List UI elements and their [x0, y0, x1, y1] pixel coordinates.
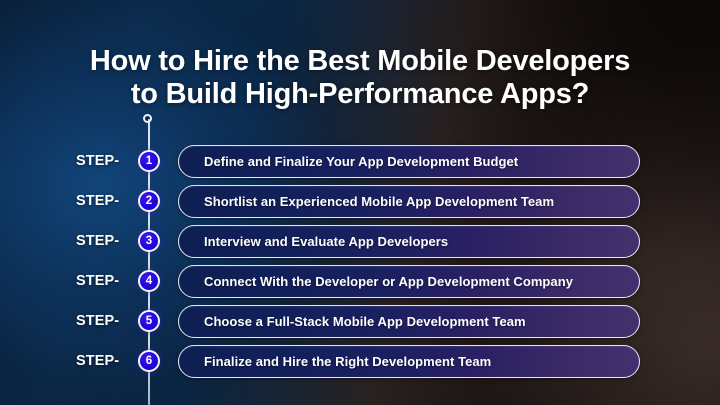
step-row[interactable]: STEP- 6 Finalize and Hire the Right Deve… — [0, 345, 720, 378]
step-label: STEP- — [76, 225, 119, 258]
step-text: Define and Finalize Your App Development… — [204, 146, 625, 177]
infographic-poster: How to Hire the Best Mobile Developers t… — [0, 0, 720, 405]
page-title: How to Hire the Best Mobile Developers t… — [0, 45, 720, 111]
step-text: Interview and Evaluate App Developers — [204, 226, 625, 257]
step-pill[interactable]: Choose a Full-Stack Mobile App Developme… — [178, 305, 640, 338]
step-number-badge: 1 — [138, 150, 160, 172]
step-row[interactable]: STEP- 5 Choose a Full-Stack Mobile App D… — [0, 305, 720, 338]
step-label: STEP- — [76, 345, 119, 378]
step-number-badge: 6 — [138, 350, 160, 372]
step-text: Connect With the Developer or App Develo… — [204, 266, 625, 297]
step-text: Shortlist an Experienced Mobile App Deve… — [204, 186, 625, 217]
step-row[interactable]: STEP- 1 Define and Finalize Your App Dev… — [0, 145, 720, 178]
step-label: STEP- — [76, 185, 119, 218]
step-pill[interactable]: Connect With the Developer or App Develo… — [178, 265, 640, 298]
step-label: STEP- — [76, 145, 119, 178]
step-pill[interactable]: Define and Finalize Your App Development… — [178, 145, 640, 178]
step-pill[interactable]: Interview and Evaluate App Developers — [178, 225, 640, 258]
step-row[interactable]: STEP- 4 Connect With the Developer or Ap… — [0, 265, 720, 298]
step-pill[interactable]: Finalize and Hire the Right Development … — [178, 345, 640, 378]
step-pill[interactable]: Shortlist an Experienced Mobile App Deve… — [178, 185, 640, 218]
step-number-badge: 4 — [138, 270, 160, 292]
step-text: Finalize and Hire the Right Development … — [204, 346, 625, 377]
steps-list: STEP- 1 Define and Finalize Your App Dev… — [0, 145, 720, 385]
step-number-badge: 5 — [138, 310, 160, 332]
step-text: Choose a Full-Stack Mobile App Developme… — [204, 306, 625, 337]
step-label: STEP- — [76, 305, 119, 338]
page-title-line-1: How to Hire the Best Mobile Developers — [0, 45, 720, 78]
step-label: STEP- — [76, 265, 119, 298]
step-number-badge: 2 — [138, 190, 160, 212]
step-number-badge: 3 — [138, 230, 160, 252]
step-row[interactable]: STEP- 2 Shortlist an Experienced Mobile … — [0, 185, 720, 218]
step-row[interactable]: STEP- 3 Interview and Evaluate App Devel… — [0, 225, 720, 258]
page-title-line-2: to Build High-Performance Apps? — [0, 78, 720, 111]
